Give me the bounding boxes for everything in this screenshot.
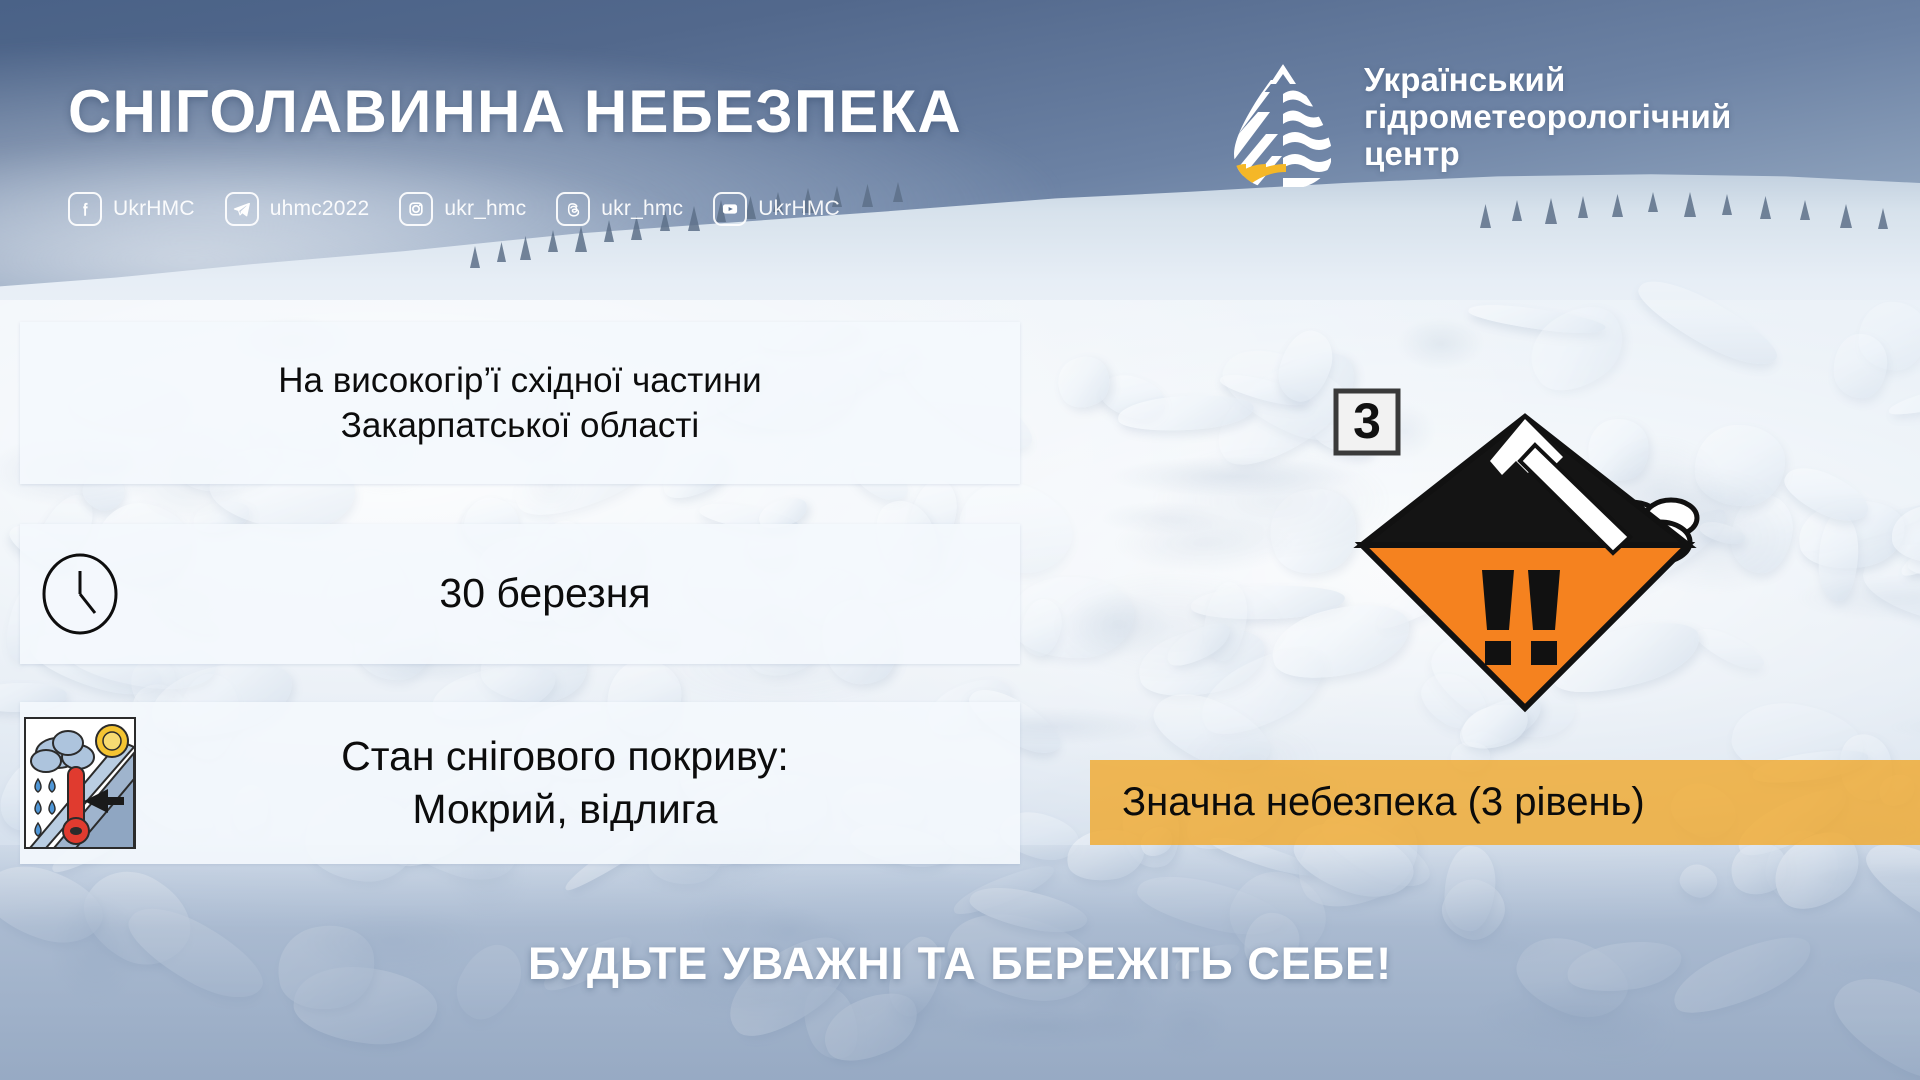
safety-note: БУДЬТЕ УВАЖНІ ТА БЕРЕЖІТЬ СЕБЕ! xyxy=(0,938,1920,990)
logo-line-1: Український xyxy=(1364,62,1732,99)
snow-line-2: Мокрий, відлига xyxy=(140,783,990,836)
social-link-ukr_hmc-2[interactable]: ukr_hmc xyxy=(399,192,526,226)
snow-shadow xyxy=(1794,574,1920,623)
org-logo-text: Український гідрометеорологічний центр xyxy=(1364,62,1732,173)
social-handle: UkrHMC xyxy=(758,197,840,221)
page-title: СНІГОЛАВИННА НЕБЕЗПЕКА xyxy=(68,82,962,142)
social-link-ukrhmc-4[interactable]: UkrHMC xyxy=(713,192,840,226)
social-link-uhmc2022-1[interactable]: uhmc2022 xyxy=(225,192,370,226)
svg-text:3: 3 xyxy=(1353,393,1381,449)
threads-icon xyxy=(556,192,590,226)
region-text: На високогір’ї східної частини Закарпатс… xyxy=(278,358,761,449)
facebook-icon xyxy=(68,192,102,226)
snow-lump xyxy=(1833,333,1888,399)
snow-shadow xyxy=(1048,569,1293,683)
date-value: 30 березня xyxy=(140,567,1020,620)
social-handle: uhmc2022 xyxy=(270,197,370,221)
social-handle: ukr_hmc xyxy=(444,197,526,221)
avalanche-danger-level-3-icon: 3 xyxy=(1330,385,1720,735)
social-link-ukrhmc-0[interactable]: UkrHMC xyxy=(68,192,195,226)
youtube-icon xyxy=(713,192,747,226)
danger-level-banner: Значна небезпека (3 рівень) xyxy=(1090,760,1920,845)
logo-line-3: центр xyxy=(1364,136,1732,173)
snow-lump xyxy=(1886,370,1920,421)
snow-condition-text: Стан снігового покриву: Мокрий, відлига xyxy=(140,730,1020,837)
org-logo: Український гідрометеорологічний центр xyxy=(1228,62,1732,192)
logo-line-2: гідрометеорологічний xyxy=(1364,99,1732,136)
region-line-2: Закарпатської області xyxy=(278,403,761,449)
region-line-1: На високогір’ї східної частини xyxy=(278,358,761,404)
social-handle: ukr_hmc xyxy=(601,197,683,221)
instagram-icon xyxy=(399,192,433,226)
snow-shadow xyxy=(1396,317,1485,369)
date-panel: 30 березня xyxy=(20,524,1020,664)
telegram-icon xyxy=(225,192,259,226)
clock-icon xyxy=(20,553,140,635)
region-panel: На високогір’ї східної частини Закарпатс… xyxy=(20,322,1020,484)
social-handle: UkrHMC xyxy=(113,197,195,221)
snow-shadow xyxy=(1887,711,1920,744)
snow-condition-panel: Стан снігового покриву: Мокрий, відлига xyxy=(20,702,1020,864)
level-badge: 3 xyxy=(1336,391,1398,453)
social-link-ukr_hmc-3[interactable]: ukr_hmc xyxy=(556,192,683,226)
danger-level-label: Значна небезпека (3 рівень) xyxy=(1090,780,1645,825)
social-links-row: UkrHMCuhmc2022ukr_hmcukr_hmcUkrHMC xyxy=(68,192,870,226)
header: СНІГОЛАВИННА НЕБЕЗПЕКА UkrHMCuhmc2022ukr… xyxy=(0,0,1920,300)
hydromet-droplet-logo-icon xyxy=(1228,62,1338,192)
wet-snow-thaw-icon xyxy=(20,717,140,849)
snow-line-1: Стан снігового покриву: xyxy=(140,730,990,783)
